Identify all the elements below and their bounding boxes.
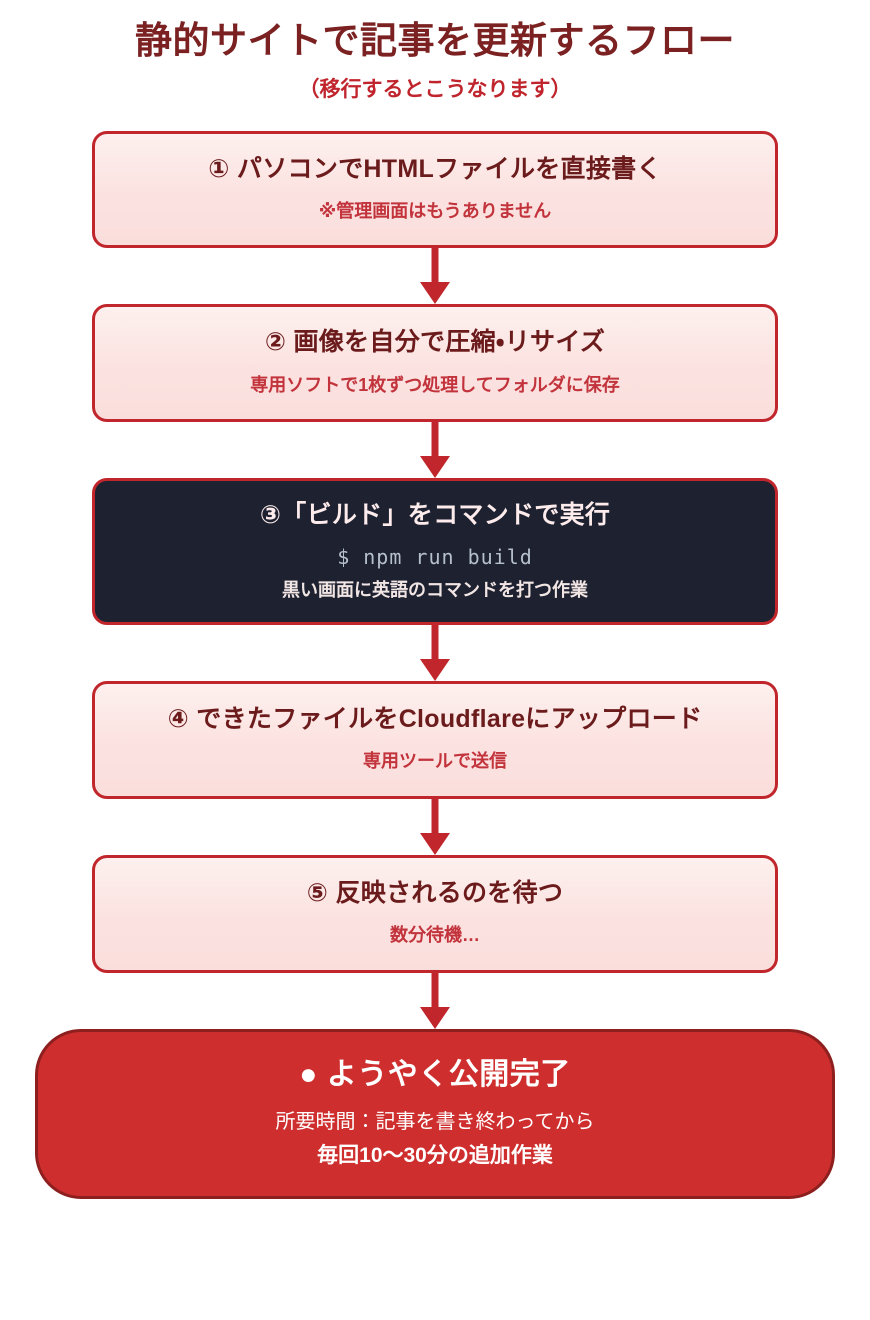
down-arrow-icon-4 xyxy=(420,799,450,855)
down-arrow-icon-1 xyxy=(420,248,450,304)
arrow-head xyxy=(420,456,450,478)
flow-step-5-title: ⑤ 反映されるのを待つ xyxy=(113,877,757,910)
arrow-stem xyxy=(432,625,439,663)
flow-step-2: ② 画像を自分で圧縮・リサイズ 専用ソフトで1枚ずつ処理してフォルダに保存 xyxy=(92,304,778,422)
page-subtitle: （移行するとこうなります） xyxy=(0,76,870,103)
flow-diagram-page: 静的サイトで記事を更新するフロー （移行するとこうなります） ① パソコンでHT… xyxy=(0,0,870,1320)
result-duration-label: 所要時間：記事を書き終わってから xyxy=(58,1109,812,1136)
flow-steps-container: ① パソコンでHTMLファイルを直接書く ※管理画面はもうありません ② 画像を… xyxy=(0,131,870,1200)
flow-step-5: ⑤ 反映されるのを待つ 数分待機… xyxy=(92,855,778,973)
down-arrow-icon-5 xyxy=(420,973,450,1029)
flow-step-5-note: 数分待機… xyxy=(113,923,757,947)
arrow-stem xyxy=(432,422,439,460)
flow-step-1-title: ① パソコンでHTMLファイルを直接書く xyxy=(113,153,757,186)
down-arrow-icon-3 xyxy=(420,625,450,681)
flow-step-3-note: 黒い画面に英語のコマンドを打つ作業 xyxy=(113,578,757,602)
flow-step-3: ③「ビルド」をコマンドで実行 $ npm run build 黒い画面に英語のコ… xyxy=(92,478,778,625)
flow-step-2-note: 専用ソフトで1枚ずつ処理してフォルダに保存 xyxy=(113,373,757,397)
flow-step-1: ① パソコンでHTMLファイルを直接書く ※管理画面はもうありません xyxy=(92,131,778,249)
flow-step-2-title: ② 画像を自分で圧縮・リサイズ xyxy=(113,326,757,359)
arrow-stem xyxy=(432,799,439,837)
terminal-command: $ npm run build xyxy=(113,545,757,569)
arrow-head xyxy=(420,282,450,304)
result-title: ● ようやく公開完了 xyxy=(58,1056,812,1094)
page-title: 静的サイトで記事を更新するフロー xyxy=(0,18,870,64)
flow-step-3-title: ③「ビルド」をコマンドで実行 xyxy=(113,499,757,532)
arrow-stem xyxy=(432,973,439,1011)
flow-step-4-title: ④ できたファイルをCloudflareにアップロード xyxy=(113,703,757,736)
arrow-stem xyxy=(432,248,439,286)
flow-step-4: ④ できたファイルをCloudflareにアップロード 専用ツールで送信 xyxy=(92,681,778,799)
arrow-head xyxy=(420,833,450,855)
flow-step-4-note: 専用ツールで送信 xyxy=(113,749,757,773)
flow-step-1-note: ※管理画面はもうありません xyxy=(113,199,757,223)
flow-result-box: ● ようやく公開完了 所要時間：記事を書き終わってから 毎回10〜30分の追加作… xyxy=(35,1029,835,1200)
diagram-header: 静的サイトで記事を更新するフロー （移行するとこうなります） xyxy=(0,18,870,104)
down-arrow-icon-2 xyxy=(420,422,450,478)
arrow-head xyxy=(420,1007,450,1029)
result-duration-value: 毎回10〜30分の追加作業 xyxy=(58,1142,812,1170)
arrow-head xyxy=(420,659,450,681)
